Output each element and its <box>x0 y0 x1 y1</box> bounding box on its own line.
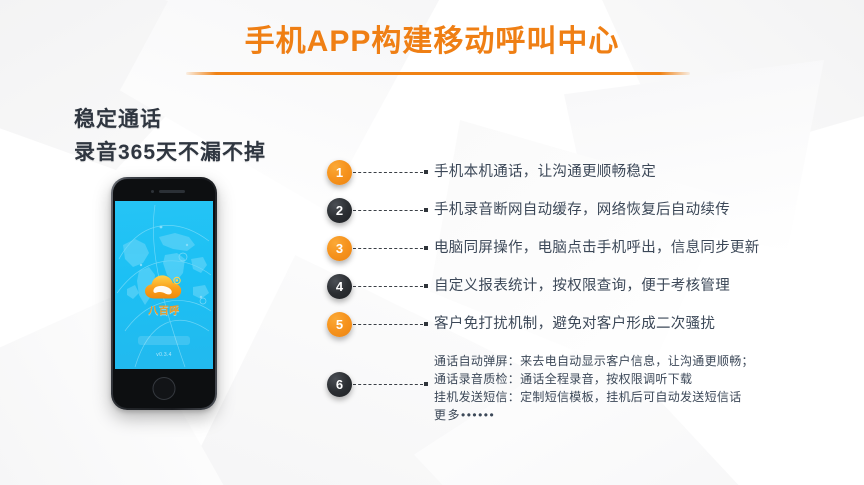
list-item: 6 通话自动弹屏：来去电自动显示客户信息，让沟通更顺畅； 通话录音质检：通话全程… <box>327 350 847 424</box>
feature-text-line: 挂机发送短信：定制短信模板，挂机后可自动发送短信话 <box>434 388 847 406</box>
list-item: 3 电脑同屏操作，电脑点击手机呼出，信息同步更新 <box>327 236 847 274</box>
title-container: 手机APP构建移动呼叫中心 <box>0 24 864 60</box>
dashed-connector <box>352 160 434 185</box>
list-item: 4 自定义报表统计，按权限查询，便于考核管理 <box>327 274 847 312</box>
home-button-icon[interactable] <box>153 377 176 400</box>
babaihu-cloud-logo-icon <box>144 273 184 301</box>
earpiece-speaker-icon <box>159 190 185 193</box>
feature-text-line-more: 更多•••••• <box>434 406 847 424</box>
list-item: 2 手机录音断网自动缓存，网络恢复后自动续传 <box>327 198 847 236</box>
app-login-button[interactable] <box>138 336 190 345</box>
dashed-connector <box>352 236 434 261</box>
feature-text-block: 通话自动弹屏：来去电自动显示客户信息，让沟通更顺畅； 通话录音质检：通话全程录音… <box>434 350 847 424</box>
app-logo-block: 八百呼 <box>115 273 213 317</box>
feature-number-badge: 6 <box>327 372 352 397</box>
feature-number-badge: 1 <box>327 160 352 185</box>
feature-list: 1 手机本机通话，让沟通更顺畅稳定 2 手机录音断网自动缓存，网络恢复后自动续传… <box>327 160 847 424</box>
feature-number-badge: 2 <box>327 198 352 223</box>
app-brand-name: 八百呼 <box>115 302 213 317</box>
title-underline-rule <box>186 72 690 75</box>
dashed-connector <box>352 312 434 337</box>
feature-text-line: 通话自动弹屏：来去电自动显示客户信息，让沟通更顺畅； <box>434 352 847 370</box>
feature-text: 手机录音断网自动缓存，网络恢复后自动续传 <box>434 198 847 223</box>
dashed-connector <box>352 198 434 223</box>
feature-text: 客户免打扰机制，避免对客户形成二次骚扰 <box>434 312 847 337</box>
headline-line-1: 稳定通话 <box>74 104 266 137</box>
phone-screen: 八百呼 v0.3.4 <box>115 201 213 369</box>
phone-chin <box>113 369 215 408</box>
list-item: 1 手机本机通话，让沟通更顺畅稳定 <box>327 160 847 198</box>
feature-number-badge: 4 <box>327 274 352 299</box>
front-camera-icon <box>151 190 154 193</box>
dashed-connector <box>352 274 434 299</box>
dashed-connector <box>352 372 434 397</box>
feature-number-badge: 3 <box>327 236 352 261</box>
app-version-label: v0.3.4 <box>115 352 213 358</box>
feature-number-badge: 5 <box>327 312 352 337</box>
phone-mockup: 八百呼 v0.3.4 <box>111 177 217 410</box>
list-item: 5 客户免打扰机制，避免对客户形成二次骚扰 <box>327 312 847 354</box>
feature-text: 自定义报表统计，按权限查询，便于考核管理 <box>434 274 847 299</box>
feature-text-line: 通话录音质检：通话全程录音，按权限调听下载 <box>434 370 847 388</box>
page-title: 手机APP构建移动呼叫中心 <box>0 24 864 60</box>
headline-line-2: 录音365天不漏不掉 <box>74 137 266 170</box>
headline-block: 稳定通话 录音365天不漏不掉 <box>74 104 266 169</box>
slide-canvas: 手机APP构建移动呼叫中心 稳定通话 录音365天不漏不掉 <box>0 0 864 485</box>
phone-body: 八百呼 v0.3.4 <box>113 179 215 408</box>
phone-earpiece-area <box>113 179 215 201</box>
feature-text: 电脑同屏操作，电脑点击手机呼出，信息同步更新 <box>434 236 847 261</box>
feature-text: 手机本机通话，让沟通更顺畅稳定 <box>434 160 847 185</box>
